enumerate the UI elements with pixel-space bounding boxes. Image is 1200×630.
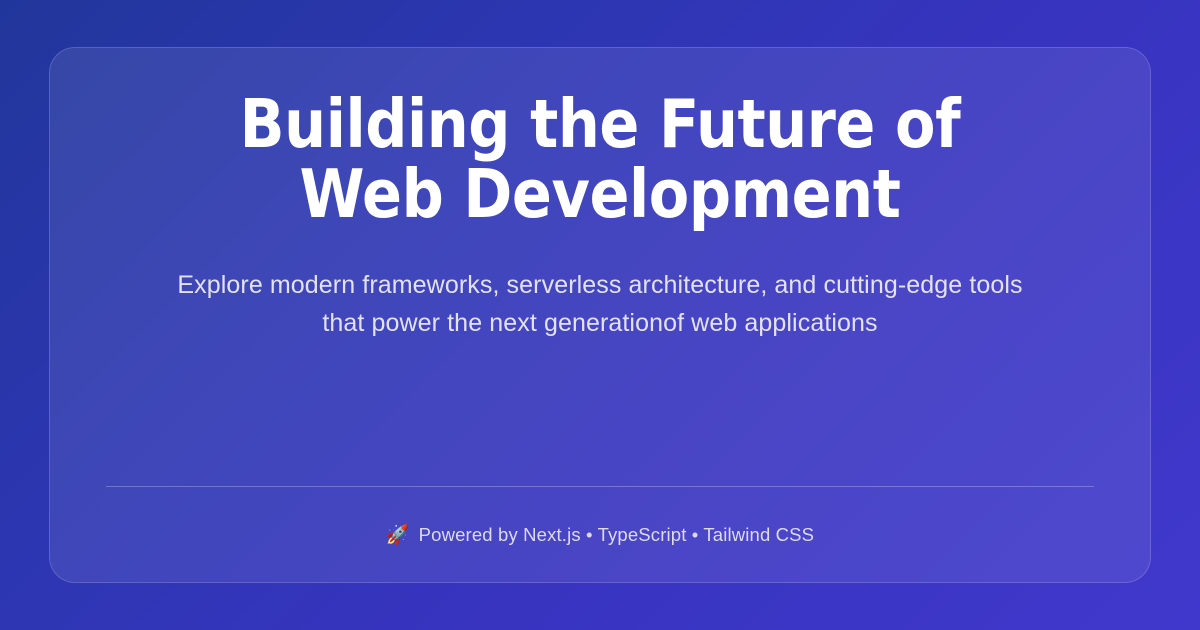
page-subtitle: Explore modern frameworks, serverless ar… xyxy=(160,267,1040,342)
rocket-icon: 🚀 xyxy=(386,526,410,545)
og-content-card: Building the Future of Web Development E… xyxy=(49,47,1151,583)
og-image-canvas: Building the Future of Web Development E… xyxy=(0,0,1200,630)
footer-credits-label: Powered by Next.js • TypeScript • Tailwi… xyxy=(419,524,815,546)
page-title: Building the Future of Web Development xyxy=(165,90,1034,229)
footer-credits: 🚀 Powered by Next.js • TypeScript • Tail… xyxy=(106,487,1094,582)
